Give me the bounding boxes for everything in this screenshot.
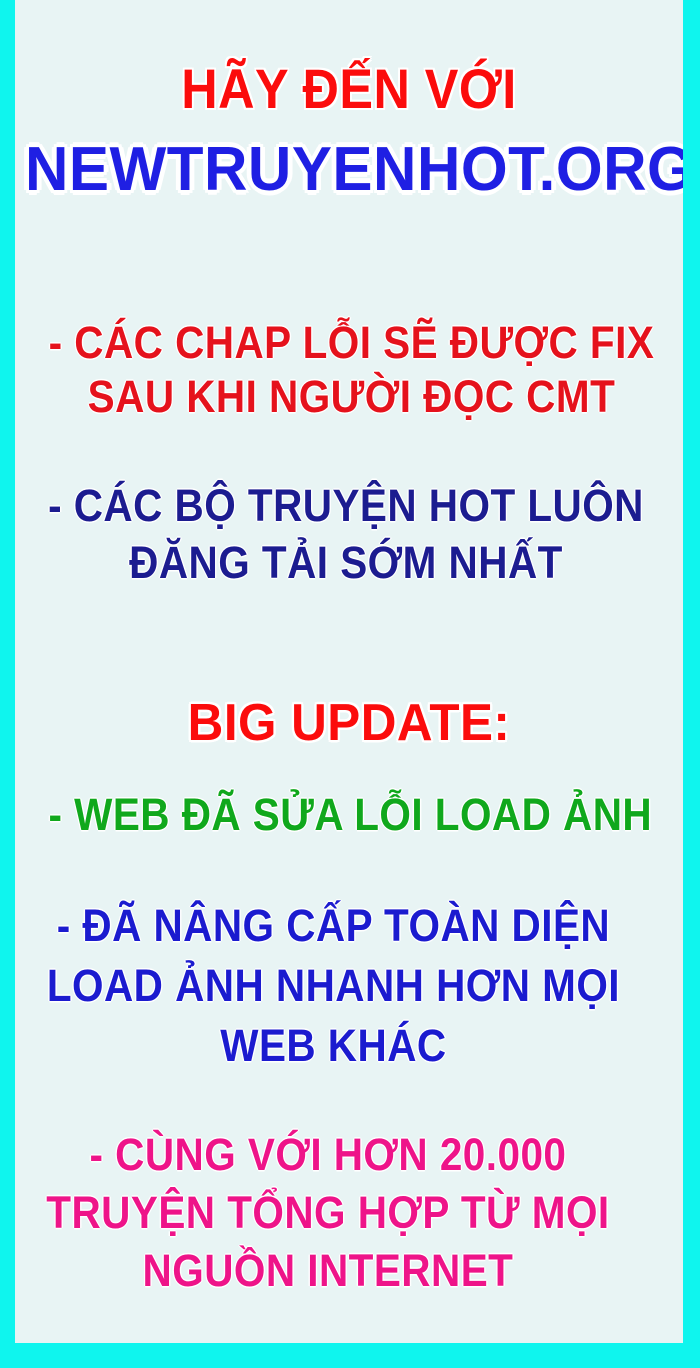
notice-chap-fix: - CÁC CHAP LỖI SẼ ĐƯỢC FIX SAU KHI NGƯỜI… — [15, 316, 683, 424]
update-library-size-line-2: TRUYỆN TỔNG HỢP TỪ MỌI — [46, 1184, 609, 1242]
update-full-upgrade-line-2: LOAD ẢNH NHANH HƠN MỌI — [47, 956, 620, 1016]
poster-canvas: HÃY ĐẾN VỚI NEWTRUYENHOT.ORG - CÁC CHAP … — [15, 0, 683, 1343]
notice-hot-series: - CÁC BỘ TRUYỆN HOT LUÔN ĐĂNG TẢI SỚM NH… — [15, 477, 677, 591]
update-library-size-line-3: NGUỒN INTERNET — [46, 1242, 609, 1300]
update-full-upgrade-line-3: WEB KHÁC — [47, 1016, 620, 1076]
update-library-size-line-1: - CÙNG VỚI HƠN 20.000 — [46, 1126, 609, 1184]
update-full-upgrade: - ĐÃ NÂNG CẤP TOÀN DIỆN LOAD ẢNH NHANH H… — [15, 896, 652, 1076]
notice-hot-series-line-2: ĐĂNG TẢI SỚM NHẤT — [48, 534, 644, 591]
notice-chap-fix-line-1: - CÁC CHAP LỖI SẼ ĐƯỢC FIX — [49, 316, 655, 370]
site-name-brand[interactable]: NEWTRUYENHOT.ORG — [25, 136, 673, 204]
promo-tagline: HÃY ĐẾN VỚI — [48, 58, 649, 120]
update-image-load-fix-line-1: - WEB ĐÃ SỬA LỖI LOAD ẢNH — [49, 788, 653, 842]
update-library-size: - CÙNG VỚI HƠN 20.000 TRUYỆN TỔNG HỢP TỪ… — [15, 1126, 641, 1300]
big-update-title: BIG UPDATE: — [32, 694, 667, 752]
notice-hot-series-line-1: - CÁC BỘ TRUYỆN HOT LUÔN — [48, 477, 644, 534]
update-image-load-fix: - WEB ĐÃ SỬA LỖI LOAD ẢNH — [15, 788, 683, 842]
update-full-upgrade-line-1: - ĐÃ NÂNG CẤP TOÀN DIỆN — [47, 896, 620, 956]
promo-poster: HÃY ĐẾN VỚI NEWTRUYENHOT.ORG - CÁC CHAP … — [0, 0, 700, 1368]
notice-chap-fix-line-2: SAU KHI NGƯỜI ĐỌC CMT — [49, 370, 655, 424]
